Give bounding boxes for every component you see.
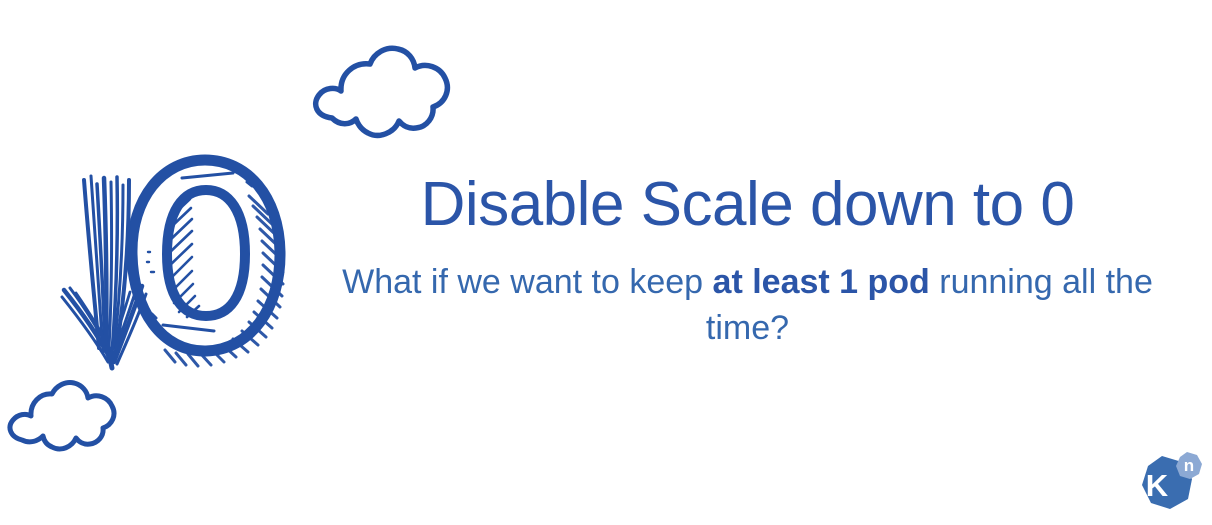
slide-canvas: Disable Scale down to 0 What if we want … <box>0 0 1212 525</box>
cloud-outline-small-icon <box>10 383 114 449</box>
slide-subtitle: What if we want to keep at least 1 pod r… <box>330 237 1165 351</box>
hand-drawn-zero-icon <box>132 160 283 366</box>
page-title: Disable Scale down to 0 <box>330 172 1165 237</box>
subtitle-line1-before: What if we want to keep <box>342 263 712 301</box>
subtitle-line1-after: running <box>930 263 1053 301</box>
cloud-outline-large-icon <box>316 48 448 135</box>
logo-letter-k: K <box>1146 468 1169 503</box>
down-arrow-sketch-icon <box>62 176 146 368</box>
knative-logo: K n <box>1132 448 1210 520</box>
subtitle-emphasis: at least 1 pod <box>713 263 930 301</box>
logo-letter-n: n <box>1184 456 1194 475</box>
slide-text-block: Disable Scale down to 0 What if we want … <box>330 172 1165 352</box>
